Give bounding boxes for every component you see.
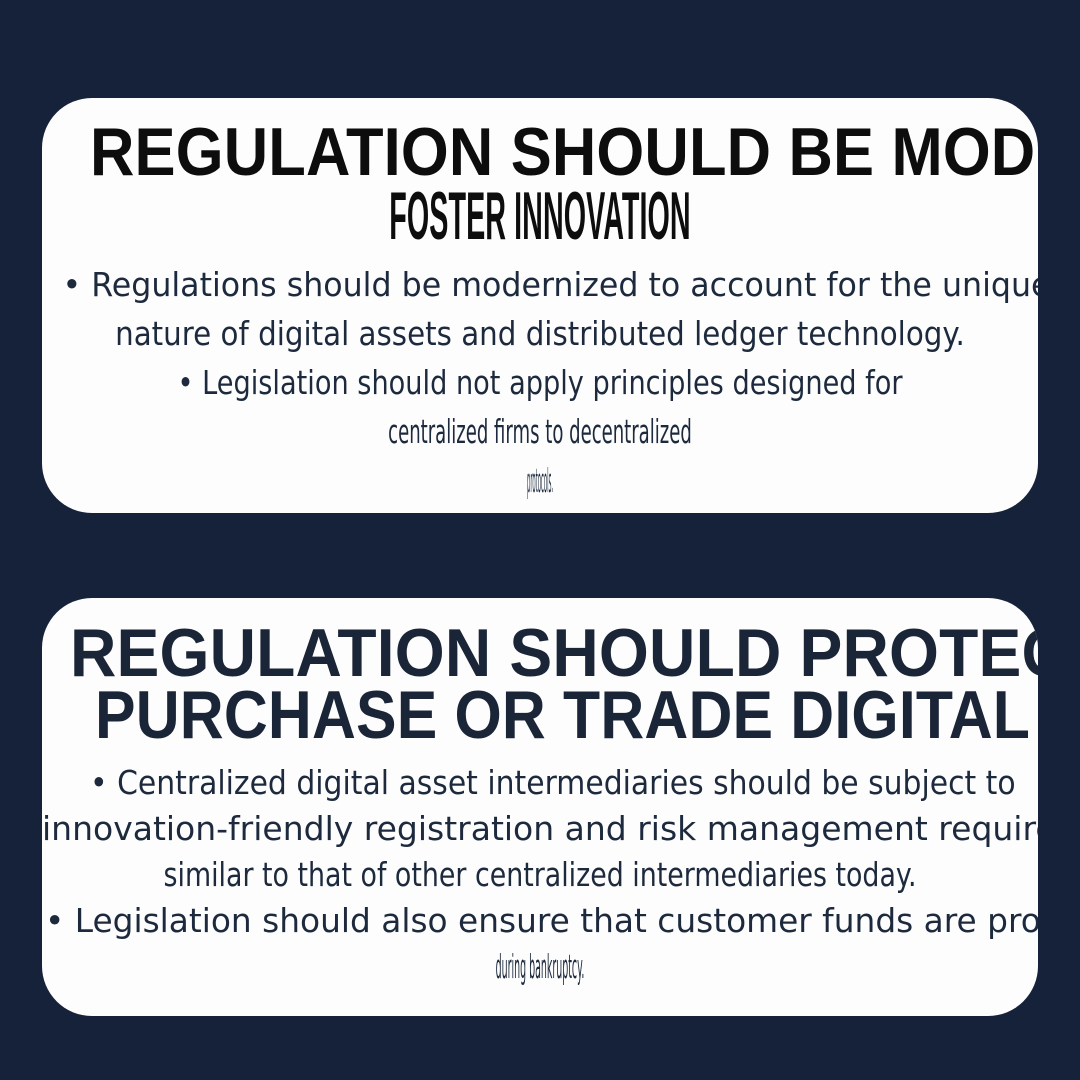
heading-line: REGULATION SHOULD PROTECT THOSE WHO bbox=[70, 622, 1010, 684]
slide-canvas: REGULATION SHOULD BE MODERNIZED TO FOSTE… bbox=[0, 0, 1080, 1080]
body-line: centralized firms to decentralized bbox=[268, 407, 813, 456]
card-body-protect: • Centralized digital asset intermediari… bbox=[42, 760, 1038, 990]
body-line: • Centralized digital asset intermediari… bbox=[90, 760, 990, 806]
heading-line: FOSTER INNOVATION bbox=[330, 184, 750, 248]
body-line: • Regulations should be modernized to ac… bbox=[63, 260, 1018, 309]
body-line: protocols. bbox=[460, 456, 620, 505]
body-line: similar to that of other centralized int… bbox=[135, 852, 945, 898]
body-line: nature of digital assets and distributed… bbox=[98, 309, 983, 358]
body-line: innovation-friendly registration and ris… bbox=[42, 806, 1038, 852]
card-body-modernized: • Regulations should be modernized to ac… bbox=[42, 260, 1038, 505]
heading-line: PURCHASE OR TRADE DIGITAL ASSETS bbox=[95, 684, 985, 746]
body-line: • Legislation should also ensure that cu… bbox=[45, 898, 1035, 944]
card-regulation-protect-purchasers: REGULATION SHOULD PROTECT THOSE WHO PURC… bbox=[42, 598, 1038, 1016]
body-line: • Legislation should not apply principle… bbox=[130, 358, 950, 407]
card-regulation-modernized: REGULATION SHOULD BE MODERNIZED TO FOSTE… bbox=[42, 98, 1038, 513]
card-heading-modernized: REGULATION SHOULD BE MODERNIZED TO FOSTE… bbox=[42, 120, 1038, 248]
heading-line: REGULATION SHOULD BE MODERNIZED TO bbox=[90, 120, 990, 184]
card-heading-protect: REGULATION SHOULD PROTECT THOSE WHO PURC… bbox=[42, 622, 1038, 746]
body-line: during bankruptcy. bbox=[398, 944, 683, 990]
